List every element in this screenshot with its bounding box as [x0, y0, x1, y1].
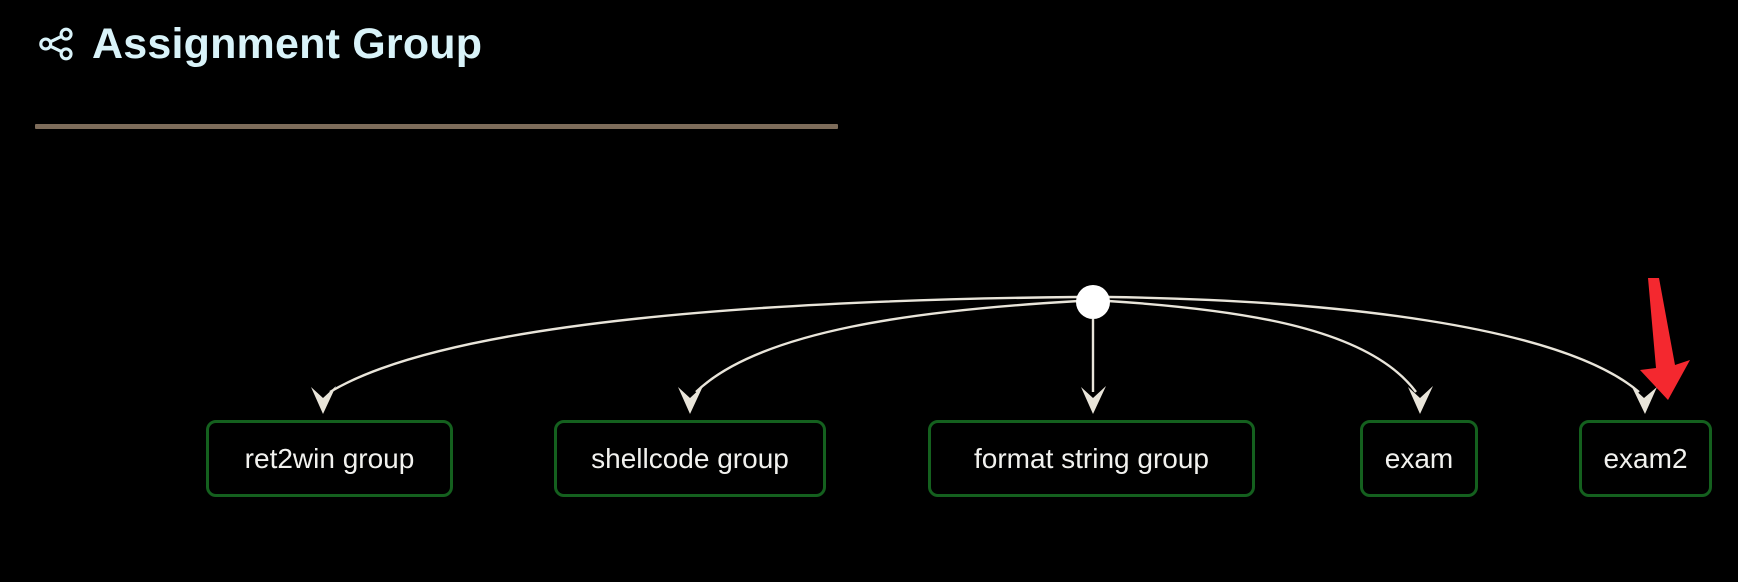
- group-node-label: exam2: [1603, 443, 1687, 475]
- group-node-label: ret2win group: [245, 443, 415, 475]
- node-layer: ret2win group shellcode group format str…: [0, 0, 1738, 582]
- group-node-ret2win-group[interactable]: ret2win group: [206, 420, 453, 497]
- group-node-label: shellcode group: [591, 443, 789, 475]
- group-node-exam2[interactable]: exam2: [1579, 420, 1712, 497]
- group-node-shellcode-group[interactable]: shellcode group: [554, 420, 826, 497]
- group-node-exam[interactable]: exam: [1360, 420, 1478, 497]
- group-node-format-string-group[interactable]: format string group: [928, 420, 1255, 497]
- group-node-label: exam: [1385, 443, 1453, 475]
- group-node-label: format string group: [974, 443, 1209, 475]
